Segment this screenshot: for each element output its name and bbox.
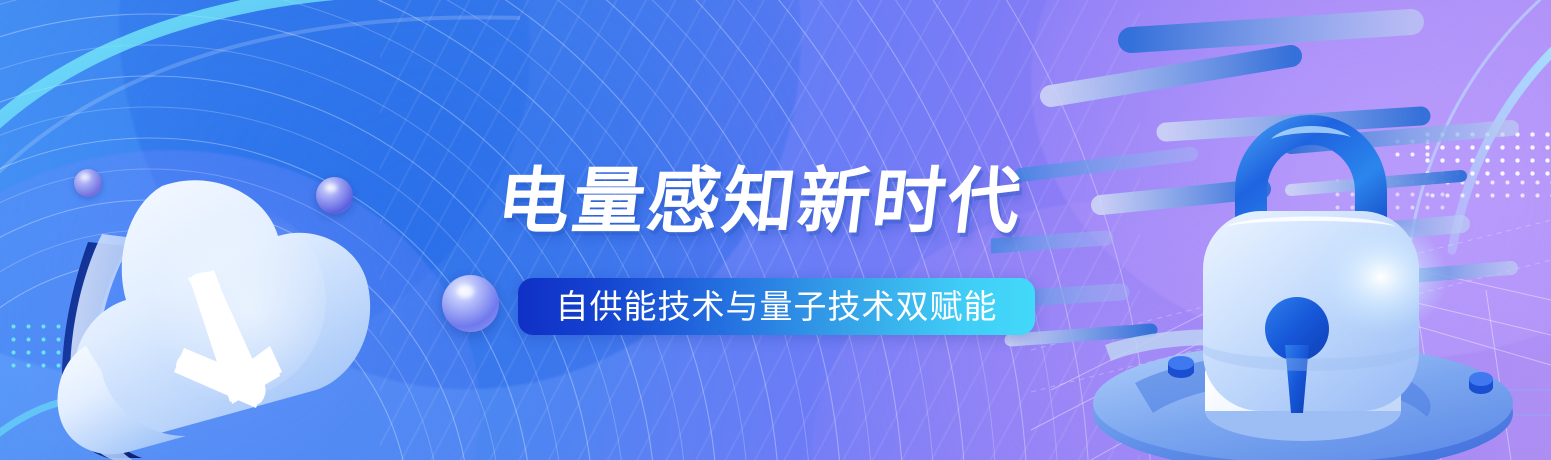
promo-banner: 电量感知新时代 自供能技术与量子技术双赋能 [0, 0, 1551, 460]
decorative-bubble-2 [316, 177, 353, 214]
padlock-icon [1075, 95, 1545, 460]
decorative-bubble-3 [442, 275, 499, 332]
decorative-bubble-1 [74, 169, 102, 197]
